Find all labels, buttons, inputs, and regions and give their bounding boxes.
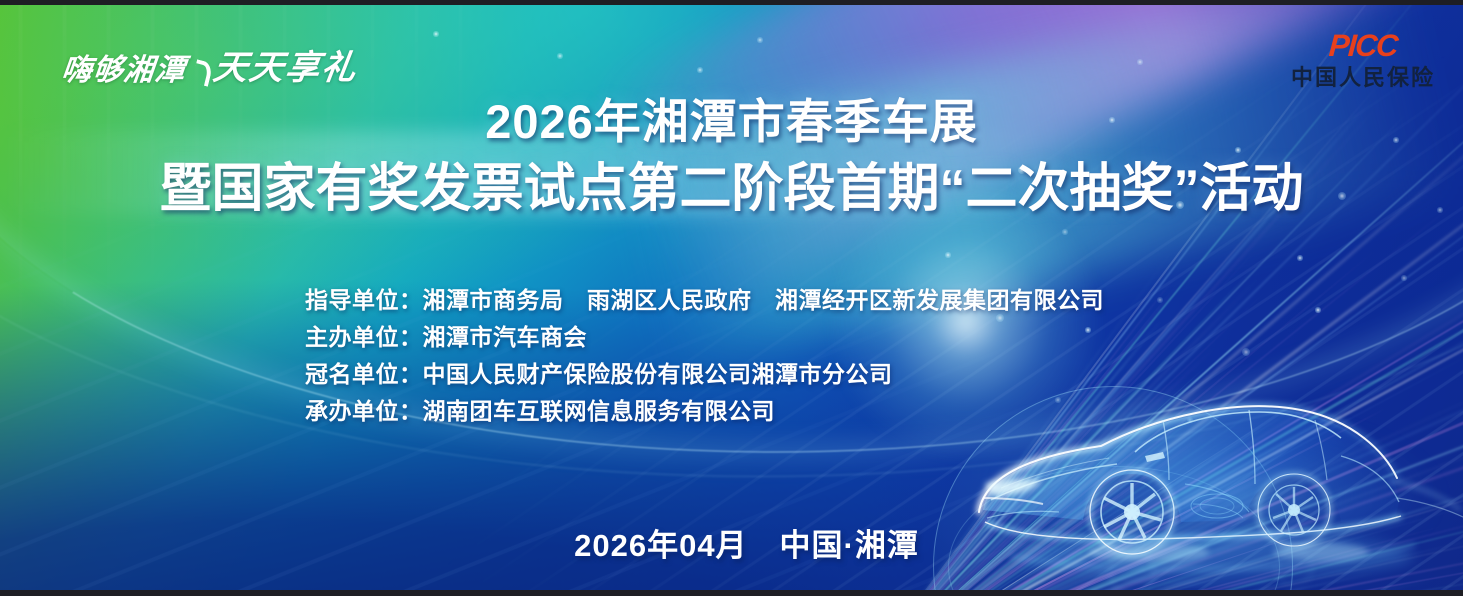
organizer-line: 冠名单位：中国人民财产保险股份有限公司湘潭市分公司 [305, 356, 1104, 393]
organizer-line: 主办单位：湘潭市汽车商会 [305, 319, 1104, 356]
campaign-logo-part2: 天天享礼 [211, 40, 362, 89]
picc-logo: PICC 中国人民保险 [1291, 30, 1435, 90]
campaign-logo-part1: 嗨够湘潭 [60, 45, 189, 89]
event-banner: 嗨够湘潭 天天享礼 PICC 中国人民保险 2026年湘潭市春季车展 暨国家有奖… [0, 0, 1463, 596]
event-date-location: 2026年04月 中国·湘潭 [544, 520, 919, 565]
organizer-line: 承办单位：湖南团车互联网信息服务有限公司 [305, 393, 1104, 430]
bottom-trim-bar [0, 590, 1463, 596]
picc-wordmark: PICC [1290, 30, 1436, 61]
top-trim-bar [0, 0, 1463, 5]
campaign-logo: 嗨够湘潭 天天享礼 [62, 40, 358, 89]
picc-chinese-name: 中国人民保险 [1291, 66, 1435, 90]
organizer-line: 指导单位：湘潭市商务局 雨湖区人民政府 湘潭经开区新发展集团有限公司 [305, 282, 1104, 319]
organizer-list: 指导单位：湘潭市商务局 雨湖区人民政府 湘潭经开区新发展集团有限公司 主办单位：… [305, 282, 1104, 430]
page-title: 2026年湘潭市春季车展 暨国家有奖发票试点第二阶段首期“二次抽奖”活动 [0, 96, 1463, 218]
event-footer: 2026年04月 中国·湘潭 [0, 520, 1463, 565]
title-line-1: 2026年湘潭市春季车展 [0, 96, 1463, 148]
title-line-2: 暨国家有奖发票试点第二阶段首期“二次抽奖”活动 [0, 160, 1463, 218]
swoosh-icon [192, 61, 208, 89]
